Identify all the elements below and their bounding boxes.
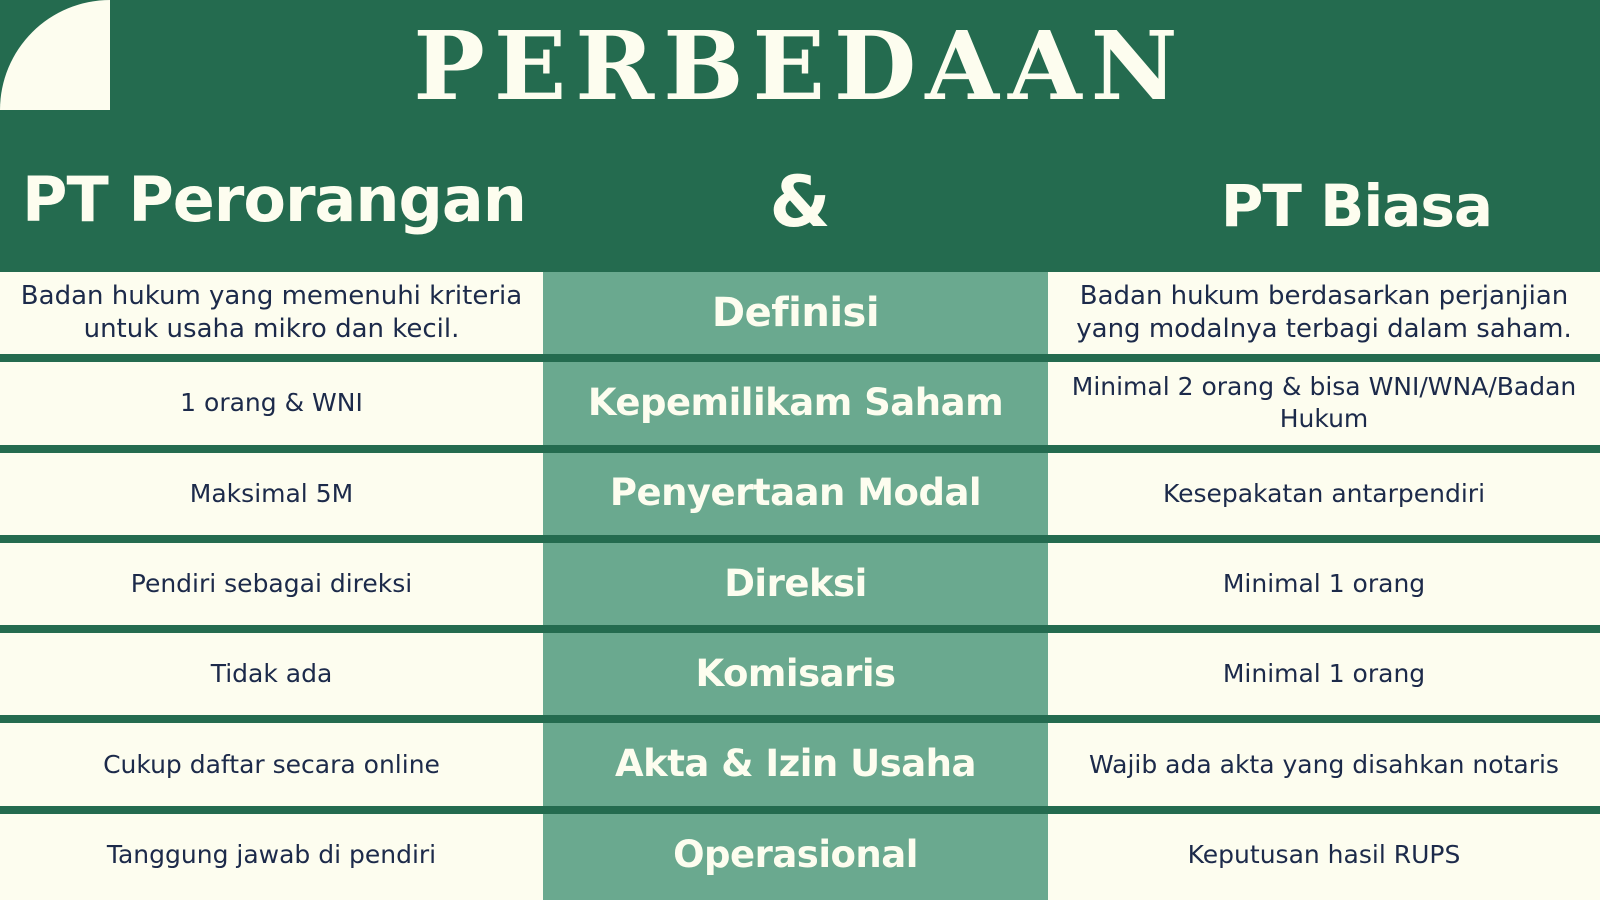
cell-left: Maksimal 5M [0, 449, 543, 539]
cell-right: Minimal 2 orang & bisa WNI/WNA/Badan Huk… [1048, 358, 1600, 448]
comparison-table: Badan hukum yang memenuhi kriteria untuk… [0, 268, 1600, 900]
table-row: Tidak ada Komisaris Minimal 1 orang [0, 629, 1600, 719]
cell-right: Keputusan hasil RUPS [1048, 810, 1600, 900]
page-title: PERBEDAAN [0, 16, 1600, 119]
table-row: Cukup daftar secara online Akta & Izin U… [0, 719, 1600, 809]
table-row: Tanggung jawab di pendiri Operasional Ke… [0, 810, 1600, 900]
cell-right: Wajib ada akta yang disahkan notaris [1048, 719, 1600, 809]
cell-left: Tanggung jawab di pendiri [0, 810, 543, 900]
cell-right: Minimal 1 orang [1048, 539, 1600, 629]
cell-left: Tidak ada [0, 629, 543, 719]
cell-aspect: Operasional [543, 810, 1048, 900]
cell-left: 1 orang & WNI [0, 358, 543, 448]
cell-aspect: Komisaris [543, 629, 1048, 719]
row-divider [0, 354, 1600, 362]
poster-header: PERBEDAAN PT Perorangan & PT Biasa [0, 0, 1600, 268]
comparison-poster: PERBEDAAN PT Perorangan & PT Biasa Badan… [0, 0, 1600, 900]
row-divider [0, 445, 1600, 453]
cell-aspect: Penyertaan Modal [543, 449, 1048, 539]
cell-left: Badan hukum yang memenuhi kriteria untuk… [0, 268, 543, 358]
table-row: Pendiri sebagai direksi Direksi Minimal … [0, 539, 1600, 629]
row-divider [0, 535, 1600, 543]
cell-right: Kesepakatan antarpendiri [1048, 449, 1600, 539]
table-row: Maksimal 5M Penyertaan Modal Kesepakatan… [0, 449, 1600, 539]
row-divider [0, 715, 1600, 723]
table-rows: Badan hukum yang memenuhi kriteria untuk… [0, 268, 1600, 900]
subtitle-row: PT Perorangan & PT Biasa [0, 155, 1600, 268]
cell-left: Pendiri sebagai direksi [0, 539, 543, 629]
cell-aspect: Definisi [543, 268, 1048, 358]
row-divider [0, 264, 1600, 272]
row-divider [0, 625, 1600, 633]
cell-right: Badan hukum berdasarkan perjanjian yang … [1048, 268, 1600, 358]
cell-aspect: Kepemilikam Saham [543, 358, 1048, 448]
cell-right: Minimal 1 orang [1048, 629, 1600, 719]
row-divider [0, 806, 1600, 814]
cell-aspect: Akta & Izin Usaha [543, 719, 1048, 809]
table-row: Badan hukum yang memenuhi kriteria untuk… [0, 268, 1600, 358]
column-heading-right: PT Biasa [1221, 177, 1492, 235]
cell-aspect: Direksi [543, 539, 1048, 629]
cell-left: Cukup daftar secara online [0, 719, 543, 809]
table-row: 1 orang & WNI Kepemilikam Saham Minimal … [0, 358, 1600, 448]
